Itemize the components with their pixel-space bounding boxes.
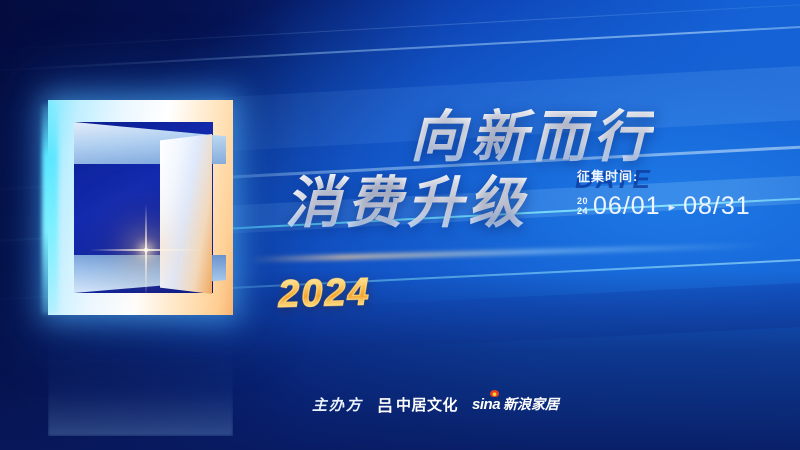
date-end: 08/31 bbox=[683, 192, 751, 221]
promo-banner: 向新而行 消费升级 DATE 征集时间: 20 24 06/01 ▸ 08/31… bbox=[0, 0, 800, 450]
sina-eye-icon bbox=[490, 390, 499, 397]
date-year-bottom: 24 bbox=[577, 207, 588, 216]
headline-line-2: 消费升级 bbox=[285, 174, 529, 231]
date-block: DATE 征集时间: 20 24 06/01 ▸ 08/31 bbox=[577, 166, 777, 221]
door-open-panel bbox=[160, 134, 212, 294]
date-arrow-icon: ▸ bbox=[666, 199, 679, 215]
date-range-row: 20 24 06/01 ▸ 08/31 bbox=[577, 192, 777, 221]
sina-wordmark: sina bbox=[472, 396, 500, 414]
door-graphic bbox=[48, 100, 233, 315]
zhongju-label: 中居文化 bbox=[396, 394, 458, 415]
date-label: 征集时间: bbox=[577, 166, 777, 185]
headline-line-1: 向新而行 bbox=[410, 108, 654, 165]
door-reflection bbox=[48, 318, 233, 436]
sina-latin-label: sina bbox=[472, 396, 500, 413]
sina-cn-label: 新浪家居 bbox=[503, 394, 559, 414]
headline-block: 向新而行 消费升级 bbox=[410, 108, 654, 165]
date-start: 06/01 bbox=[593, 192, 661, 221]
star-flare-icon bbox=[144, 248, 148, 252]
gold-subtitle-text: 年度家居畅销单品征集 bbox=[370, 260, 771, 313]
logo-zhongju: 吕 中居文化 bbox=[377, 392, 458, 416]
date-year: 20 24 bbox=[577, 197, 588, 216]
gold-subtitle-year: 2024 bbox=[278, 271, 372, 316]
door-edge-glow bbox=[42, 104, 58, 314]
organizer-row: 主办方 吕 中居文化 sina 新浪家居 bbox=[312, 392, 559, 416]
organizer-label: 主办方 bbox=[312, 394, 363, 415]
zhongju-mark-icon: 吕 bbox=[377, 392, 392, 416]
logo-sina: sina 新浪家居 bbox=[472, 394, 559, 414]
